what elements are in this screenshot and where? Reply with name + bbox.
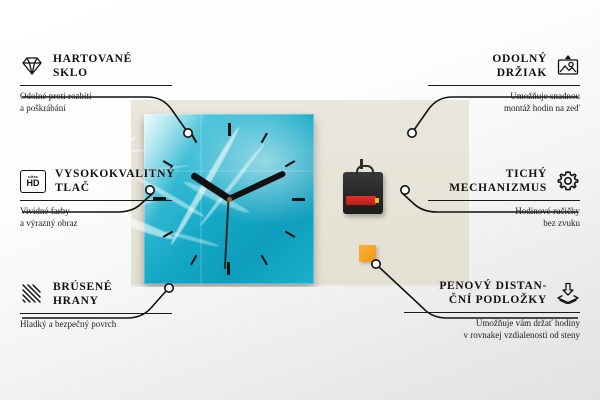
feature-title-line1: HARTOVANÉ [53, 52, 132, 66]
feature-description: Hladký a bezpečný povrch [20, 319, 200, 331]
feature-divider [428, 200, 580, 201]
feature-title-line2: SKLO [53, 66, 132, 80]
brushed-edges-icon [20, 283, 44, 305]
feature-title-line2: TLAČ [55, 181, 175, 195]
wire-endpoint-right-1 [408, 129, 416, 137]
feature-description: Hodinové ručičky bez zvuku [400, 206, 580, 229]
feature-desc-line2: a výrazný obraz [20, 218, 200, 230]
feature-title-line1: BRÚSENÉ [53, 280, 112, 294]
feature-title-line2: DRŽIAK [492, 66, 547, 80]
feature-title: HARTOVANÉ SKLO [53, 52, 132, 80]
feature-title: BRÚSENÉ HRANY [53, 280, 112, 308]
feature-high-quality-print: ultra HD VYSOKOKVALITNÝ TLAČ Vividné far… [20, 167, 200, 229]
feature-title-line2: HRANY [53, 294, 112, 308]
feature-description: Vividné farby a výrazný obraz [20, 206, 200, 229]
feature-title-line2: MECHANIZMUS [449, 181, 547, 195]
feature-heading: HARTOVANÉ SKLO [20, 52, 200, 80]
feature-hardened-glass: HARTOVANÉ SKLO Odolné proti rozbití a po… [20, 52, 200, 114]
infographic-root: HARTOVANÉ SKLO Odolné proti rozbití a po… [0, 0, 600, 400]
feature-desc-line1: Odolné proti rozbití [20, 91, 200, 103]
feature-desc-line2: a poškrábání [20, 103, 200, 115]
feature-title: ODOLNÝ DRŽIAK [492, 52, 547, 80]
feature-heading: ODOLNÝ DRŽIAK [400, 52, 580, 80]
feature-title: PENOVÝ DISTAN- ČNÍ PODLOŽKY [439, 279, 547, 307]
diamond-icon [20, 55, 44, 77]
feature-heading: BRÚSENÉ HRANY [20, 280, 200, 308]
feature-divider [20, 200, 172, 201]
feature-desc-line2: v rovnakej vzdialenosti od steny [389, 330, 580, 342]
feature-title-line1: VYSOKOKVALITNÝ [55, 167, 175, 181]
feature-desc-line1: Vividné farby [20, 206, 200, 218]
feature-title-line1: PENOVÝ DISTAN- [439, 279, 547, 293]
feature-heading: TICHÝ MECHANIZMUS [400, 167, 580, 195]
wire-endpoint-left-1 [184, 129, 192, 137]
feature-heading: ultra HD VYSOKOKVALITNÝ TLAČ [20, 167, 200, 195]
feature-desc-line1: Hodinové ručičky [400, 206, 580, 218]
feature-divider [20, 313, 172, 314]
feature-description: Umožňuje snadnou montáž hodin na zeď [400, 91, 580, 114]
feature-divider [428, 85, 580, 86]
feature-desc-line2: bez zvuku [400, 218, 580, 230]
feature-divider [20, 85, 172, 86]
feature-desc-line1: Hladký a bezpečný povrch [20, 319, 200, 331]
feature-title-line1: TICHÝ [449, 167, 547, 181]
feature-heading: PENOVÝ DISTAN- ČNÍ PODLOŽKY [389, 279, 580, 307]
foam-layers-icon [556, 282, 580, 304]
feature-brushed-edges: BRÚSENÉ HRANY Hladký a bezpečný povrch [20, 280, 200, 331]
feature-silent-mechanism: TICHÝ MECHANIZMUS Hodinové ručičky bez z… [400, 167, 580, 229]
picture-hanger-icon [556, 55, 580, 77]
feature-durable-hanger: ODOLNÝ DRŽIAK Umožňuje snadnou montáž ho… [400, 52, 580, 114]
wire-endpoint-right-3 [372, 260, 380, 268]
feature-title-line1: ODOLNÝ [492, 52, 547, 66]
feature-desc-line1: Umožňuje vám držať hodiny [389, 318, 580, 330]
feature-description: Umožňuje vám držať hodiny v rovnakej vzd… [389, 318, 580, 341]
feature-foam-spacers: PENOVÝ DISTAN- ČNÍ PODLOŽKY Umožňuje vám… [389, 279, 580, 341]
feature-desc-line1: Umožňuje snadnou [400, 91, 580, 103]
feature-divider [404, 312, 580, 313]
feature-title: VYSOKOKVALITNÝ TLAČ [55, 167, 175, 195]
gear-icon [556, 170, 580, 192]
feature-title-line2: ČNÍ PODLOŽKY [439, 293, 547, 307]
feature-desc-line2: montáž hodin na zeď [400, 103, 580, 115]
feature-description: Odolné proti rozbití a poškrábání [20, 91, 200, 114]
ultra-hd-icon: ultra HD [20, 170, 46, 193]
hd-label: HD [27, 179, 40, 188]
feature-title: TICHÝ MECHANIZMUS [449, 167, 547, 195]
